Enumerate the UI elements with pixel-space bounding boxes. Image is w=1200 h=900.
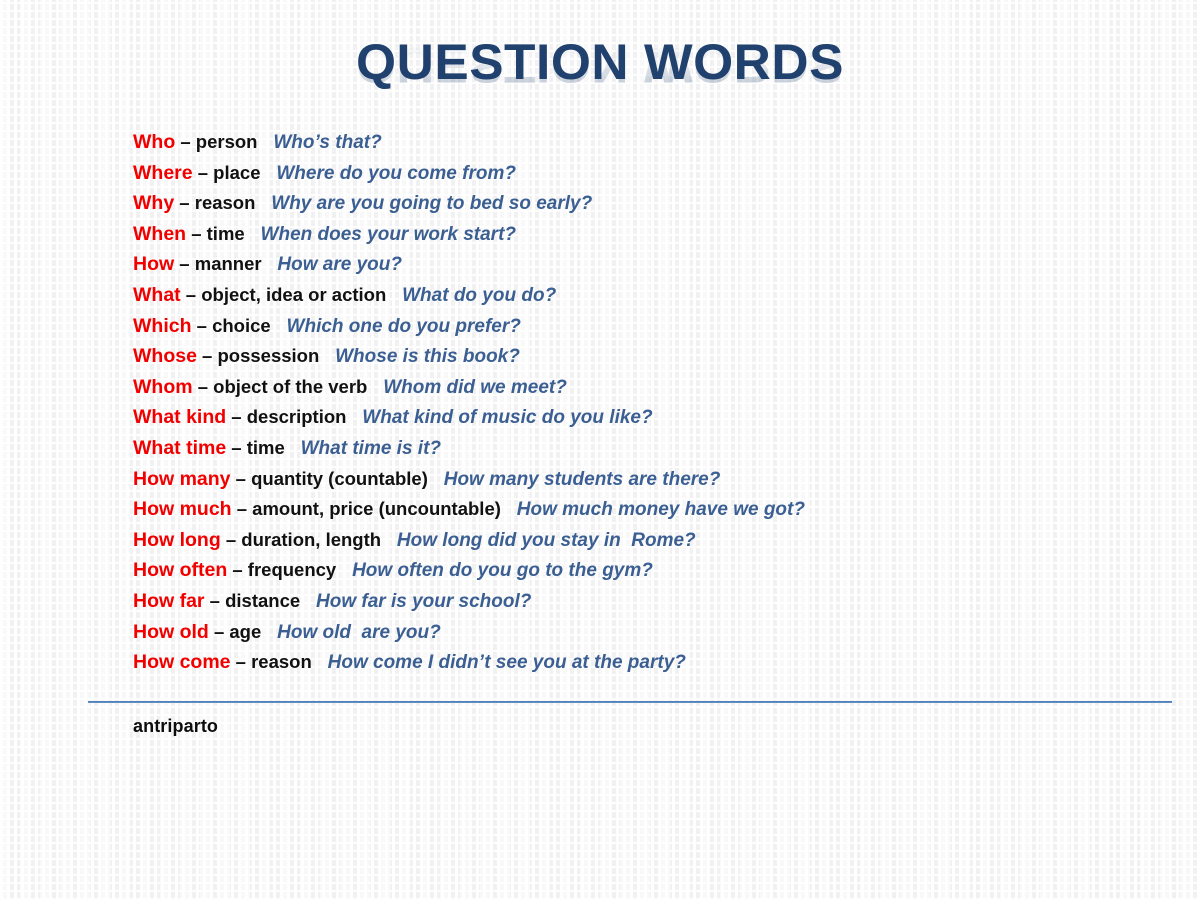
footer-divider <box>88 701 1172 703</box>
list-item: Whom – object of the verb Whom did we me… <box>133 372 1153 403</box>
question-word-example: When does your work start? <box>261 224 516 245</box>
question-word-definition: – time <box>226 437 285 458</box>
question-word-definition: – time <box>186 223 245 244</box>
question-word-definition: – distance <box>205 590 301 611</box>
list-item: How much – amount, price (uncountable) H… <box>133 494 1153 525</box>
question-word-example: How often do you go to the gym? <box>352 560 653 581</box>
question-word-example: How are you? <box>277 254 402 275</box>
question-word: What kind <box>133 406 226 428</box>
list-item: How often – frequency How often do you g… <box>133 555 1153 586</box>
list-item: How come – reason How come I didn’t see … <box>133 647 1153 678</box>
example-spacer <box>346 407 362 428</box>
list-item: How far – distance How far is your schoo… <box>133 586 1153 617</box>
question-word: How long <box>133 529 221 551</box>
question-word-example: How old are you? <box>277 622 441 643</box>
list-item: Who – person Who’s that? <box>133 127 1153 158</box>
list-item: What – object, idea or action What do yo… <box>133 280 1153 311</box>
example-spacer <box>285 438 301 459</box>
question-word-definition: – age <box>209 621 261 642</box>
question-word: Why <box>133 192 174 214</box>
example-spacer <box>271 316 287 337</box>
question-word-definition: – description <box>226 406 346 427</box>
page-title-reflection: QUESTION WORDS <box>0 38 1200 91</box>
question-word: How come <box>133 651 231 673</box>
question-word-definition: – frequency <box>227 559 336 580</box>
example-spacer <box>367 377 383 398</box>
question-word-example: Why are you going to bed so early? <box>271 193 592 214</box>
example-spacer <box>386 285 402 306</box>
question-word-example: Whom did we meet? <box>383 377 567 398</box>
question-word: Which <box>133 315 192 337</box>
question-word-definition: – quantity (countable) <box>231 468 428 489</box>
question-word: How often <box>133 559 227 581</box>
list-item: What time – time What time is it? <box>133 433 1153 464</box>
question-word: How <box>133 253 174 275</box>
question-word-definition: – object, idea or action <box>181 284 387 305</box>
slide-title-block: QUESTION WORDS QUESTION WORDS <box>0 36 1200 136</box>
question-word: How old <box>133 621 209 643</box>
question-word-definition: – amount, price (uncountable) <box>232 498 501 519</box>
question-word: How many <box>133 468 231 490</box>
slide-canvas: QUESTION WORDS QUESTION WORDS Who – pers… <box>0 0 1200 900</box>
example-spacer <box>312 652 328 673</box>
question-word-example: Where do you come from? <box>276 163 516 184</box>
question-word: Whom <box>133 376 193 398</box>
question-word: Who <box>133 131 175 153</box>
list-item: How long – duration, length How long did… <box>133 525 1153 556</box>
question-word-definition: – duration, length <box>221 529 381 550</box>
example-spacer <box>428 469 444 490</box>
question-word-example: What do you do? <box>402 285 556 306</box>
example-spacer <box>336 560 352 581</box>
question-word-definition: – object of the verb <box>193 376 368 397</box>
example-spacer <box>381 530 397 551</box>
question-word: What time <box>133 437 226 459</box>
question-word-example: How many students are there? <box>444 469 721 490</box>
question-word: What <box>133 284 181 306</box>
question-word-definition: – person <box>175 131 257 152</box>
example-spacer <box>319 346 335 367</box>
question-word-example: What time is it? <box>301 438 441 459</box>
question-word-definition: – reason <box>231 651 312 672</box>
example-spacer <box>501 499 517 520</box>
question-word-definition: – manner <box>174 253 261 274</box>
list-item: How many – quantity (countable) How many… <box>133 464 1153 495</box>
question-word-example: How much money have we got? <box>517 499 805 520</box>
list-item: Why – reason Why are you going to bed so… <box>133 188 1153 219</box>
question-word-definition: – place <box>193 162 261 183</box>
question-word-example: How come I didn’t see you at the party? <box>328 652 686 673</box>
question-word-example: Which one do you prefer? <box>287 316 521 337</box>
example-spacer <box>262 254 278 275</box>
question-word: Whose <box>133 345 197 367</box>
question-word: How much <box>133 498 232 520</box>
question-word-definition: – choice <box>192 315 271 336</box>
example-spacer <box>245 224 261 245</box>
question-word-example: How long did you stay in Rome? <box>397 530 696 551</box>
list-item: When – time When does your work start? <box>133 219 1153 250</box>
footer-author: antriparto <box>133 716 218 737</box>
list-item: How old – age How old are you? <box>133 617 1153 648</box>
list-item: Whose – possession Whose is this book? <box>133 341 1153 372</box>
example-spacer <box>255 193 271 214</box>
question-word-definition: – reason <box>174 192 255 213</box>
question-word: Where <box>133 162 193 184</box>
question-word-example: How far is your school? <box>316 591 531 612</box>
question-word-example: What kind of music do you like? <box>362 407 652 428</box>
question-word-example: Who’s that? <box>273 132 381 153</box>
list-item: Where – place Where do you come from? <box>133 158 1153 189</box>
question-words-list: Who – person Who’s that?Where – place Wh… <box>133 127 1153 678</box>
question-word-example: Whose is this book? <box>335 346 520 367</box>
example-spacer <box>300 591 316 612</box>
question-word: How far <box>133 590 205 612</box>
example-spacer <box>257 132 273 153</box>
question-word: When <box>133 223 186 245</box>
example-spacer <box>261 163 277 184</box>
example-spacer <box>261 622 277 643</box>
list-item: What kind – description What kind of mus… <box>133 402 1153 433</box>
list-item: Which – choice Which one do you prefer? <box>133 311 1153 342</box>
list-item: How – manner How are you? <box>133 249 1153 280</box>
question-word-definition: – possession <box>197 345 319 366</box>
